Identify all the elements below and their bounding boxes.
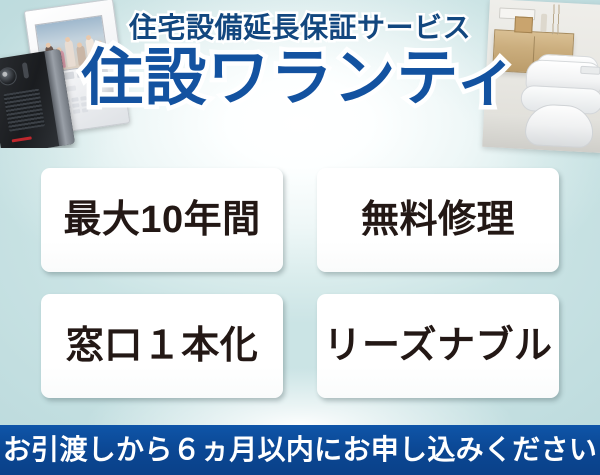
feature-grid: 最大10年間 無料修理 窓口１本化 リーズナブル — [41, 168, 559, 398]
promo-banner: 住宅設備延長保証サービス 住設ワランティ 最大10年間 無料修理 窓口１本化 リ… — [0, 0, 600, 475]
feature-label: 最大10年間 — [63, 201, 260, 239]
feature-box-max-years[interactable]: 最大10年間 — [41, 168, 283, 272]
footer-callout-bar: お引渡しから６ヵ月以内にお申し込みください — [0, 425, 600, 475]
banner-title: 住設ワランティ — [0, 46, 600, 111]
banner-subtitle: 住宅設備延長保証サービス — [0, 14, 600, 42]
feature-label: 窓口１本化 — [66, 327, 259, 365]
feature-label: 無料修理 — [361, 201, 515, 239]
banner-heading-group: 住宅設備延長保証サービス 住設ワランティ — [0, 14, 600, 111]
feature-label: リーズナブル — [323, 327, 552, 365]
feature-box-single-contact[interactable]: 窓口１本化 — [41, 294, 283, 398]
footer-callout-text: お引渡しから６ヵ月以内にお申し込みください — [3, 436, 597, 464]
feature-box-free-repair[interactable]: 無料修理 — [317, 168, 559, 272]
feature-box-reasonable[interactable]: リーズナブル — [317, 294, 559, 398]
intercom-call-button — [12, 136, 32, 142]
